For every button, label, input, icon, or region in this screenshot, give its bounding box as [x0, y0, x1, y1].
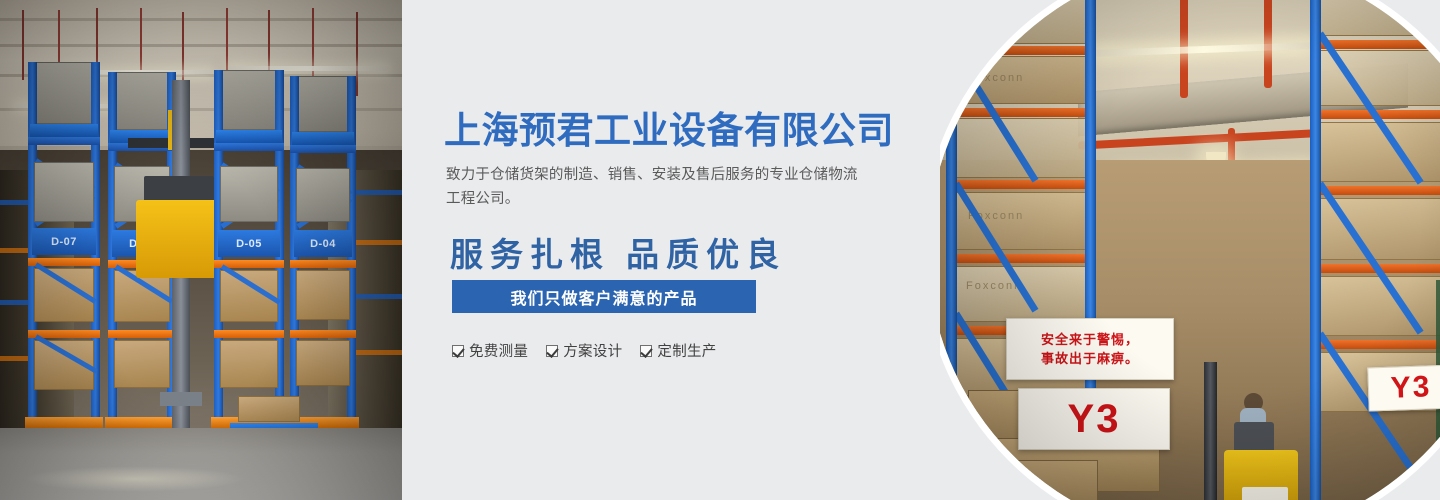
right-warehouse-photo: Foxconn Foxconn Foxconn Foxconn: [940, 0, 1440, 500]
photo-vignette: [0, 0, 402, 500]
company-title: 上海预君工业设备有限公司: [444, 100, 894, 154]
left-warehouse-photo: D-07 D-06: [0, 0, 402, 500]
hero-banner: D-07 D-06: [0, 0, 1440, 500]
cta-button[interactable]: 我们只做客户满意的产品: [452, 280, 756, 313]
right-photo-wrapper: Foxconn Foxconn Foxconn Foxconn: [940, 0, 1440, 500]
feature-label: 定制生产: [657, 340, 716, 361]
checkbox-checked-icon: [640, 345, 652, 357]
feature-item: 免费测量: [452, 340, 528, 361]
aisle-sign-edge: Y3: [1367, 365, 1440, 412]
feature-label: 方案设计: [563, 340, 622, 361]
feature-item: 方案设计: [546, 340, 622, 361]
feature-list: 免费测量 方案设计 定制生产: [452, 340, 717, 361]
feature-label: 免费测量: [469, 340, 528, 361]
photo-vignette: [940, 0, 1440, 500]
checkbox-checked-icon: [452, 345, 464, 357]
checkbox-checked-icon: [546, 345, 558, 357]
feature-item: 定制生产: [640, 340, 716, 361]
hero-slogan: 服务扎根 品质优良: [450, 228, 786, 276]
right-warehouse-photo-circle: Foxconn Foxconn Foxconn Foxconn: [940, 0, 1440, 500]
hero-content: 上海预君工业设备有限公司 致力于仓储货架的制造、销售、安装及售后服务的专业仓储物…: [402, 0, 940, 500]
company-subtitle: 致力于仓储货架的制造、销售、安装及售后服务的专业仓储物流工程公司。: [446, 163, 866, 211]
